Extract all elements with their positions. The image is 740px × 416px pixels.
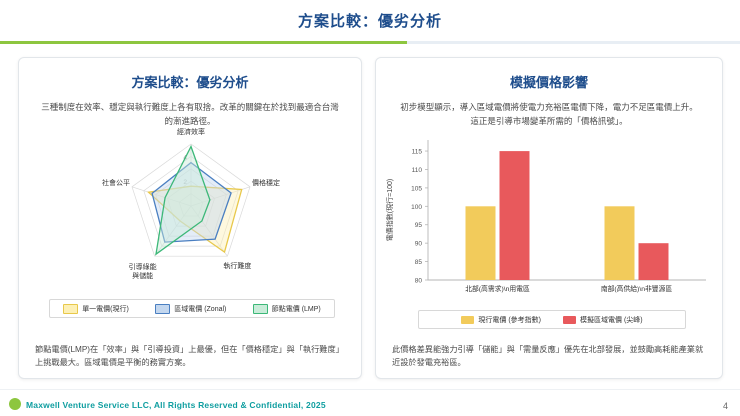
bar-legend: 現行電價 (參考指數) 模擬區域電價 (尖峰) — [418, 310, 686, 329]
right-card-title: 模擬價格影響 — [376, 72, 722, 91]
legend-label-sim: 模擬區域電價 (尖峰) — [580, 315, 643, 325]
legend-swatch-sim — [563, 316, 576, 324]
page-number: 4 — [723, 401, 728, 411]
radar-axis-label: 引導綠能 — [129, 262, 157, 271]
left-card-footnote: 節點電價(LMP)在「效率」與「引導投資」上最優，但在「價格穩定」與「執行難度」… — [35, 343, 345, 369]
footer: Maxwell Venture Service LLC, All Rights … — [0, 389, 740, 416]
price-impact-card: 模擬價格影響 初步模型顯示，導入區域電價將使電力充裕區電價下降，電力不足區電價上… — [375, 57, 723, 379]
legend-label-current: 現行電價 (參考指數) — [478, 315, 541, 325]
legend-item: 模擬區域電價 (尖峰) — [563, 315, 643, 325]
legend-swatch-single — [63, 304, 78, 314]
radar-legend: 單一電價(現行) 區域電價 (Zonal) 節點電價 (LMP) — [49, 299, 335, 318]
radar-series-group — [149, 147, 242, 255]
radar-svg: 24 經濟效率價格穩定執行難度引導綠能與儲能社會公平 — [19, 120, 363, 295]
bar-y-tick: 90 — [415, 241, 423, 248]
legend-item: 現行電價 (參考指數) — [461, 315, 541, 325]
footer-text: Maxwell Venture Service LLC, All Rights … — [26, 400, 326, 410]
bar-rect — [466, 206, 496, 280]
radar-axis-label: 執行難度 — [223, 261, 251, 270]
bar-category-label: 南部(高供給)\n非豐源區 — [601, 284, 673, 293]
bar-rect — [605, 206, 635, 280]
brand-dot-icon — [9, 398, 21, 410]
legend-item: 區域電價 (Zonal) — [155, 304, 226, 314]
legend-item: 單一電價(現行) — [63, 304, 129, 314]
left-card-title: 方案比較：優劣分析 — [19, 72, 361, 91]
radar-axis-label: 社會公平 — [102, 178, 130, 187]
bar-chart: 80859095100105110115電價指數(現行=100) 北部(高需求)… — [376, 130, 724, 310]
page-title: 方案比較：優劣分析 — [0, 10, 740, 31]
bar-y-tick: 115 — [412, 149, 423, 156]
bar-category-label: 北部(高需求)\n用電區 — [465, 284, 530, 293]
radar-chart: 24 經濟效率價格穩定執行難度引導綠能與儲能社會公平 — [19, 120, 363, 295]
legend-swatch-lmp — [253, 304, 268, 314]
legend-item: 節點電價 (LMP) — [253, 304, 321, 314]
legend-label-single: 單一電價(現行) — [82, 304, 129, 314]
bar-rect — [500, 151, 530, 280]
legend-label-lmp: 節點電價 (LMP) — [272, 304, 321, 314]
bar-category-labels: 北部(高需求)\n用電區南部(高供給)\n非豐源區 — [465, 284, 672, 293]
legend-swatch-zonal — [155, 304, 170, 314]
bar-y-tick: 80 — [415, 278, 423, 285]
title-divider — [0, 41, 740, 44]
radar-axis-label: 價格穩定 — [252, 178, 280, 187]
legend-swatch-current — [461, 316, 474, 324]
right-card-footnote: 此價格差異能強力引導「儲能」與「需量反應」優先在北部發展，並鼓勵高耗能產業就近設… — [392, 343, 706, 369]
bar-y-tick: 95 — [415, 222, 423, 229]
radar-axis-label: 經濟效率 — [177, 127, 205, 136]
bar-y-axis-title: 電價指數(現行=100) — [385, 179, 394, 241]
bar-y-tick: 85 — [415, 259, 423, 266]
right-card-subtitle: 初步模型顯示，導入區域電價將使電力充裕區電價下降，電力不足區電價上升。這正是引導… — [398, 100, 700, 128]
radar-axis-label: 與儲能 — [132, 271, 153, 280]
bar-y-tick: 105 — [411, 185, 422, 192]
bar-rect — [639, 243, 669, 280]
comparison-card: 方案比較：優劣分析 三種制度在效率、穩定與執行難度上各有取捨。改革的關鍵在於找到… — [18, 57, 362, 379]
bar-y-tick: 110 — [412, 167, 423, 174]
legend-label-zonal: 區域電價 (Zonal) — [174, 304, 226, 314]
bar-svg: 80859095100105110115電價指數(現行=100) 北部(高需求)… — [376, 130, 724, 310]
bar-y-tick: 100 — [411, 204, 422, 211]
bar-series-group — [466, 151, 669, 280]
